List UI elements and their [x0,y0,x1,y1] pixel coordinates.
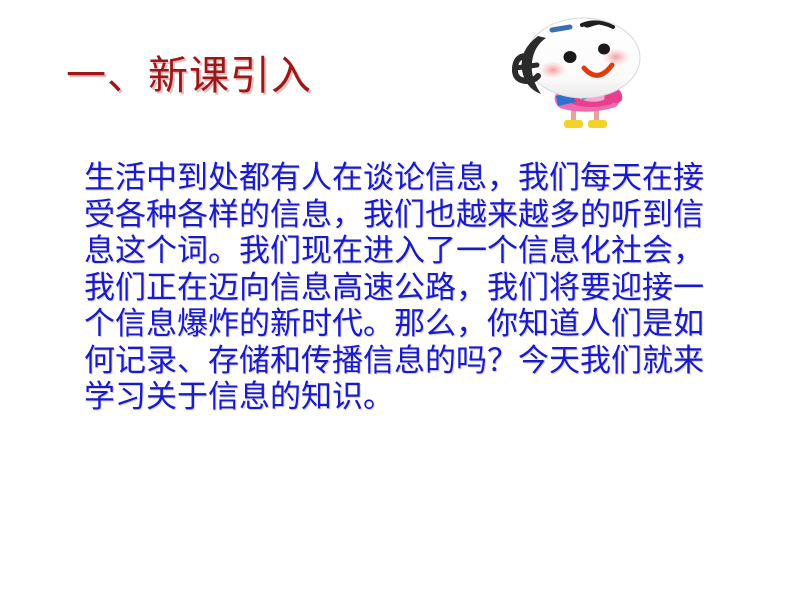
paragraph-line: 我们正在迈向信息高速公路，我们将要迎接一 [84,270,716,307]
paragraph-line: 息这个词。我们现在进入了一个信息化社会， [84,233,716,270]
paragraph-line: 个信息爆炸的新时代。那么，你知道人们是如 [84,306,716,343]
paragraph-line: 受各种各样的信息，我们也越来越多的听到信 [84,197,716,234]
paragraph-line: 学习关于信息的知识。 [84,379,716,416]
mascot-eye-right [598,44,610,55]
mascot-shoes [564,120,607,128]
paragraph-line: 何记录、存储和传播信息的吗？今天我们就来 [84,343,716,380]
mascot-blue-dash [552,27,570,30]
body-paragraph: 生活中到处都有人在谈论信息，我们每天在接 受各种各样的信息，我们也越来越多的听到… [84,160,716,416]
mascot-cheek-left [539,61,567,79]
paragraph-line: 生活中到处都有人在谈论信息，我们每天在接 [84,160,716,197]
mascot-head [515,18,640,98]
slide-canvas: 一、新课引入 [0,0,794,596]
page-title: 一、新课引入 [66,52,312,100]
mascot-eye-left [564,51,577,63]
mascot-illustration [508,8,658,136]
